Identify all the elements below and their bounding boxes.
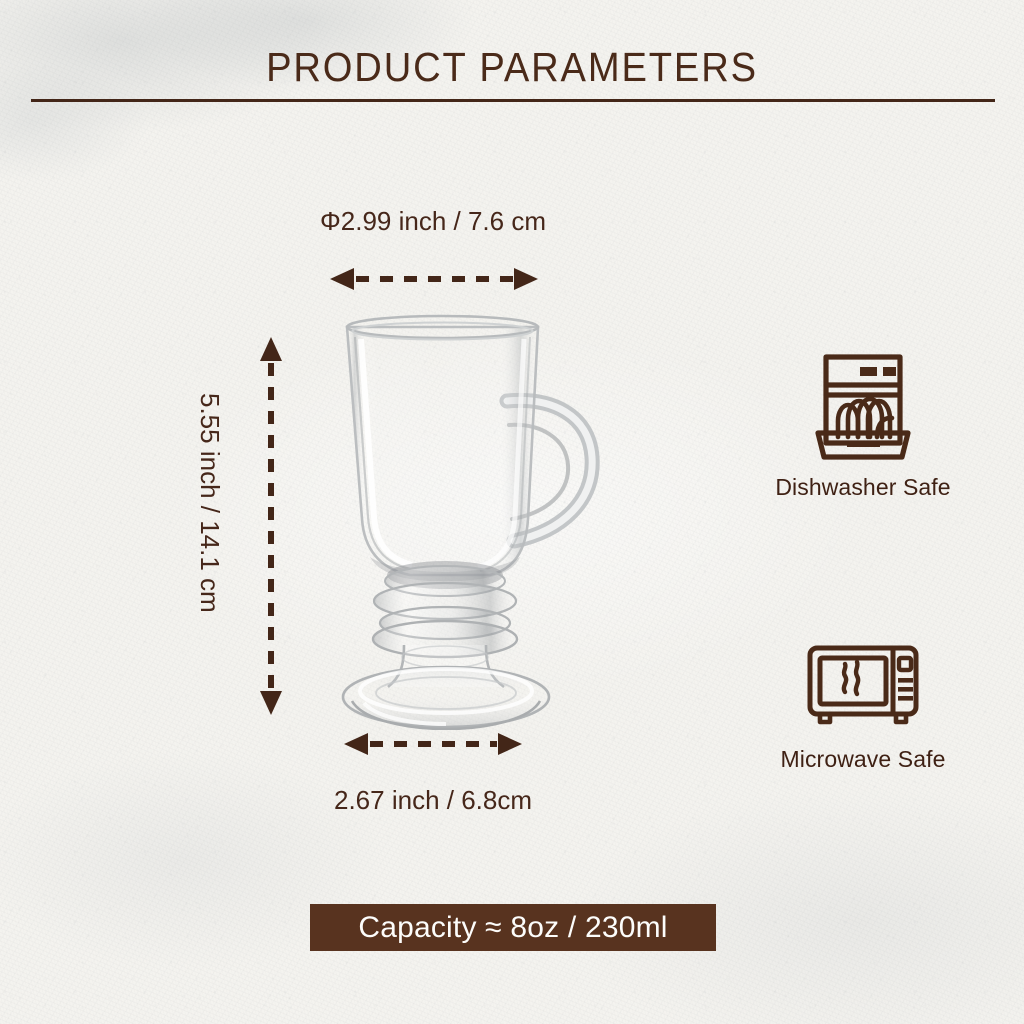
- dishwasher-icon: [748, 344, 978, 462]
- base-diameter-arrow: [340, 733, 526, 755]
- feature-label: Microwave Safe: [748, 746, 978, 773]
- height-label: 5.55 inch / 14.1 cm: [194, 393, 225, 613]
- feature-microwave-safe: Microwave Safe: [748, 634, 978, 773]
- title-divider: [31, 99, 995, 102]
- product-parameters-infographic: PRODUCT PARAMETERS Φ2.99 inch / 7.6 cm 5…: [0, 0, 1024, 1024]
- feature-label: Dishwasher Safe: [748, 474, 978, 501]
- top-diameter-label: Φ2.99 inch / 7.6 cm: [0, 206, 866, 237]
- product-image-irish-coffee-glass-mug: [300, 305, 620, 730]
- capacity-banner: Capacity ≈ 8oz / 230ml: [310, 904, 716, 951]
- base-diameter-label: 2.67 inch / 6.8cm: [0, 785, 866, 816]
- height-arrow: [260, 334, 282, 718]
- capacity-label: Capacity ≈ 8oz / 230ml: [358, 911, 667, 945]
- top-diameter-arrow: [326, 268, 542, 290]
- microwave-icon: [748, 634, 978, 734]
- feature-dishwasher-safe: Dishwasher Safe: [748, 344, 978, 501]
- page-title: PRODUCT PARAMETERS: [36, 44, 988, 91]
